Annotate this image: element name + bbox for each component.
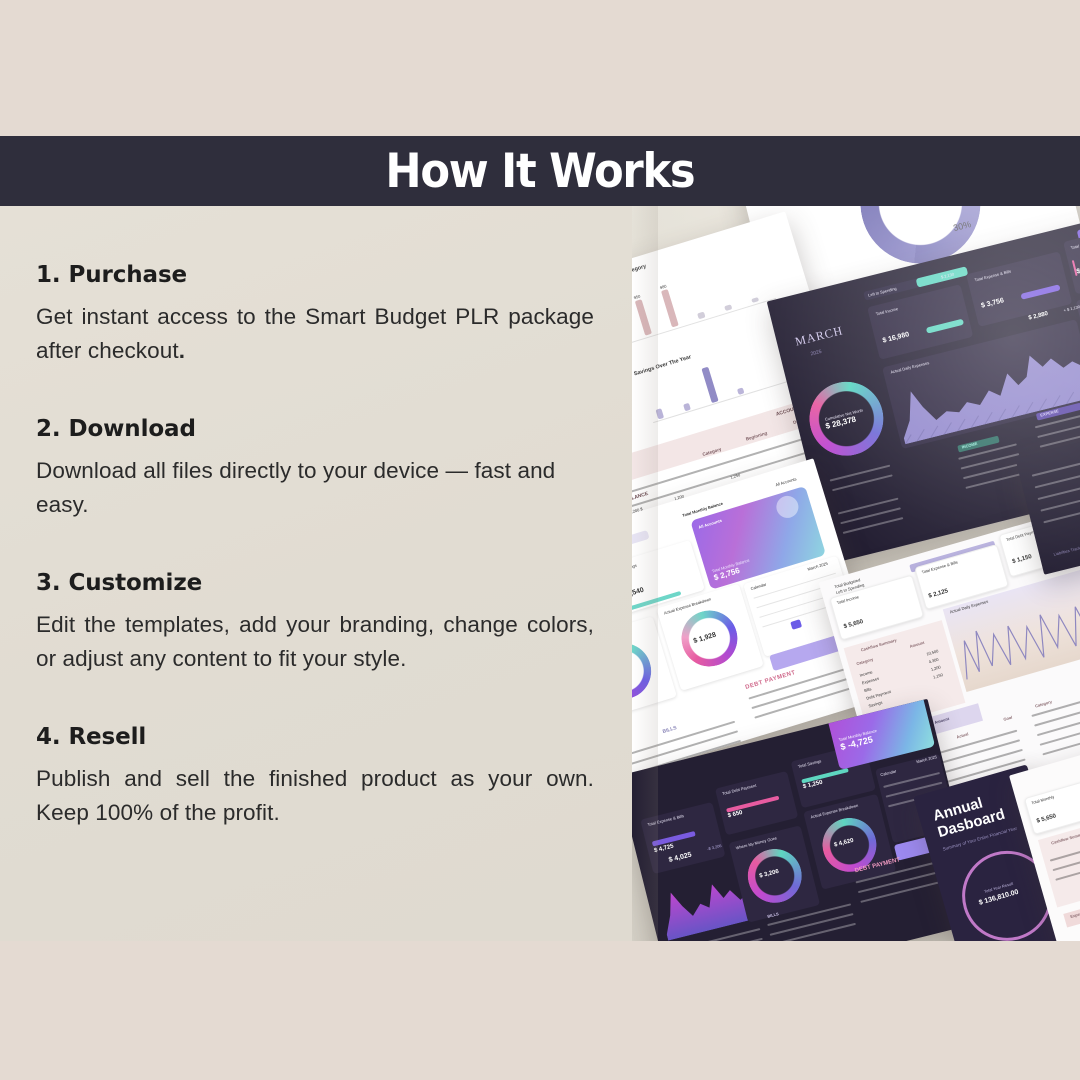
step-item-1: 1. Purchase Get instant access to the Sm… [36, 262, 594, 368]
step-item-3: 3. Customize Edit the templates, add you… [36, 570, 594, 676]
chart-title-savings-over-year: Savings Over The Year [634, 355, 692, 377]
step-title-3: 3. Customize [36, 570, 594, 596]
slide-root: 20% 30% • Expense • Bills • Debt Payment… [0, 0, 1080, 1080]
step-item-4: 4. Resell Publish and sell the finished … [36, 724, 594, 830]
step-body-1-end: . [179, 338, 185, 363]
dashboard-collage-photo: 20% 30% • Expense • Bills • Debt Payment… [632, 206, 1080, 941]
chart-title-expense-breakdown: Expense Breakdown by Category [632, 264, 647, 294]
step-item-2: 2. Download Download all files directly … [36, 416, 594, 522]
step-body-2: Download all files directly to your devi… [36, 454, 594, 522]
table-title-bills-2: BILLS [767, 911, 779, 919]
month-label-march: MARCH [795, 328, 844, 345]
banner: How It Works [0, 136, 1080, 206]
step-title-1: 1. Purchase [36, 262, 594, 288]
page-title: How It Works [386, 148, 695, 195]
step-body-1: Get instant access to the Smart Budget P… [36, 300, 594, 368]
table-title-bills-light: BILLS [662, 726, 677, 735]
table-title-debt-payment: DEBT PAYMENT [745, 671, 797, 691]
step-body-1-text: Get instant access to the Smart Budget P… [36, 304, 594, 363]
step-title-4: 4. Resell [36, 724, 594, 750]
step-body-4: Publish and sell the finished product as… [36, 762, 594, 830]
step-title-2: 2. Download [36, 416, 594, 442]
step-body-3: Edit the templates, add your branding, c… [36, 608, 594, 676]
steps-list: 1. Purchase Get instant access to the Sm… [36, 262, 594, 830]
